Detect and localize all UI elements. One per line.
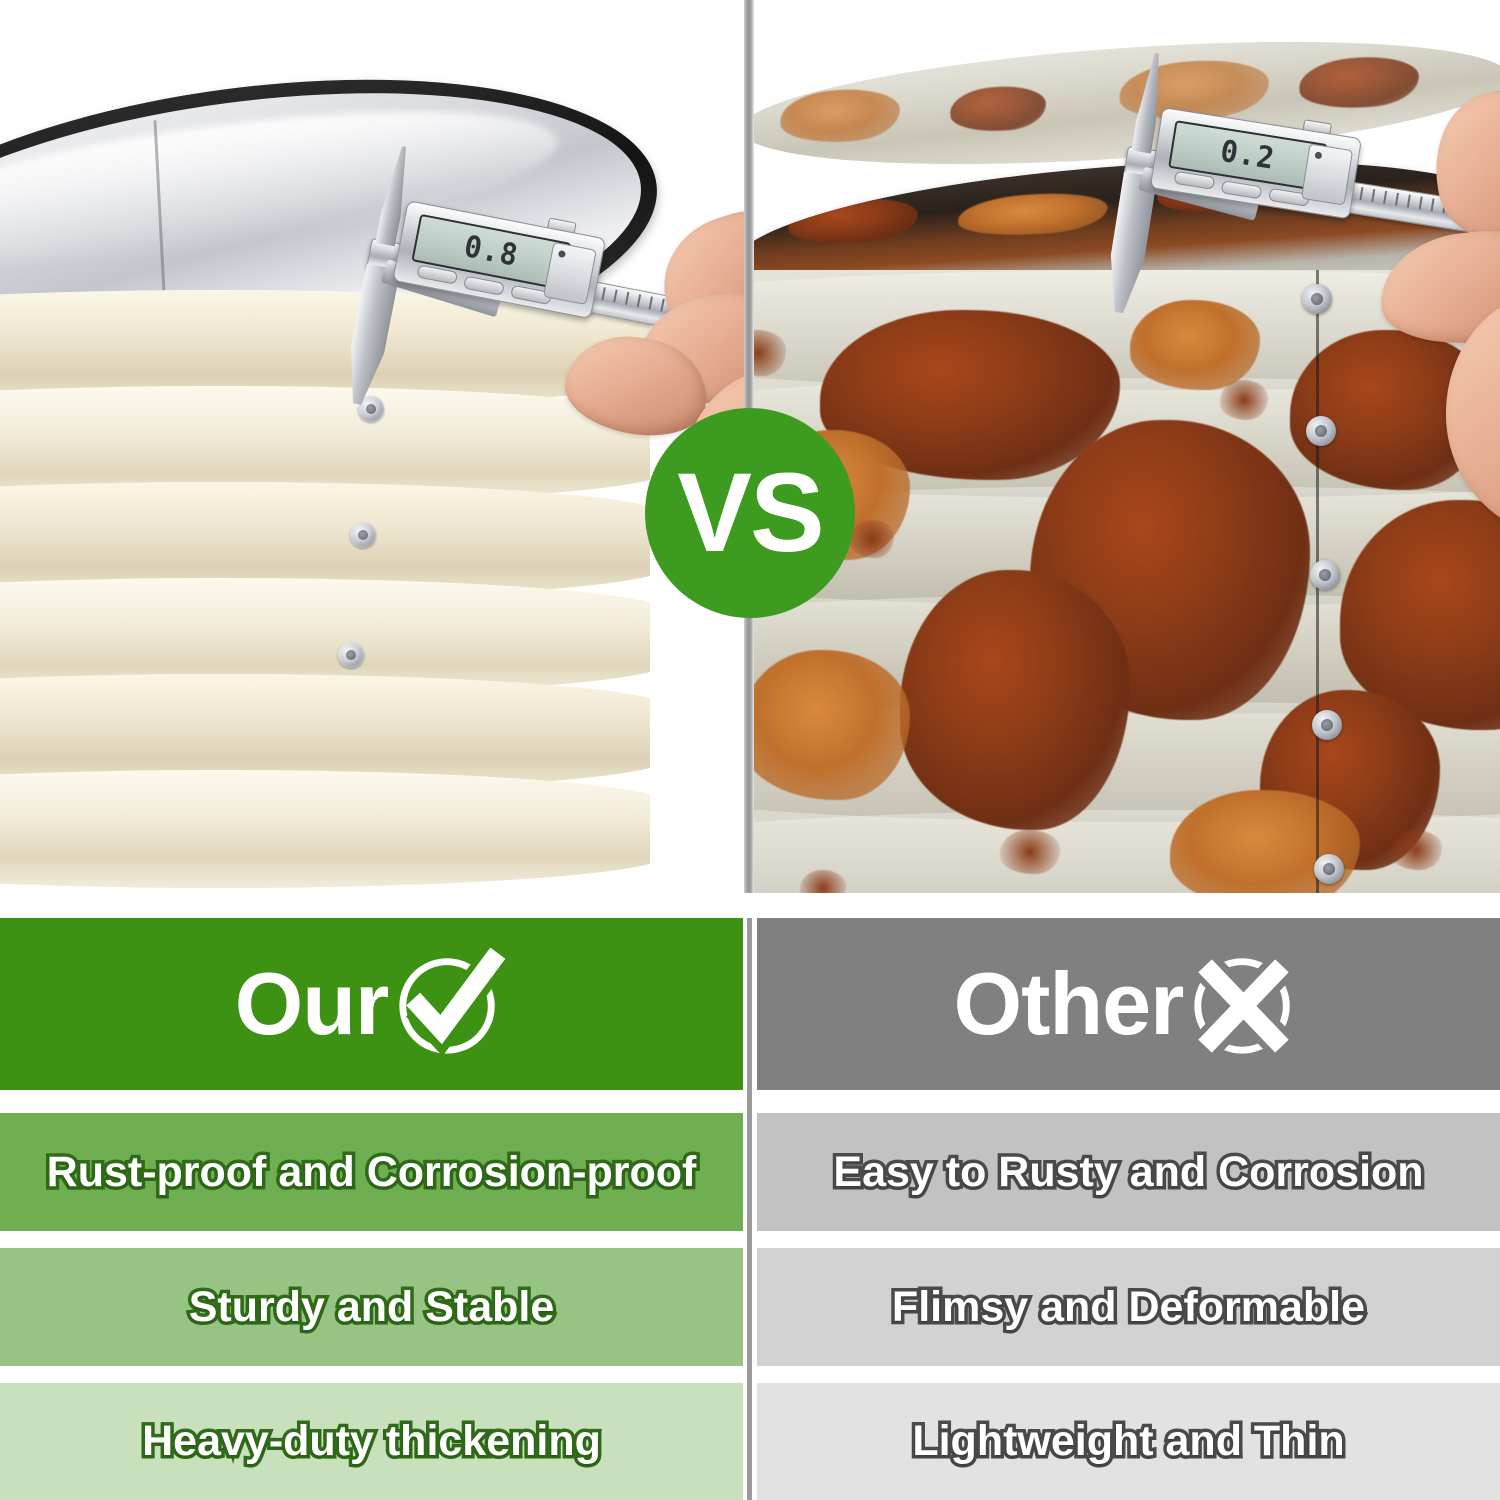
other-feature-2: Flimsy and Deformable: [757, 1248, 1500, 1366]
caliper-battery-cover: [1301, 143, 1353, 205]
our-product-photo: 0.8: [0, 0, 750, 893]
feature-label: Heavy-duty thickening: [142, 1420, 601, 1463]
rusty-garden-bed-graphic: [750, 20, 1500, 893]
rivet: [1310, 560, 1340, 590]
check-circle-icon: [390, 945, 508, 1063]
feature-label: Sturdy and Stable: [189, 1286, 555, 1329]
rust-patch: [1130, 300, 1260, 390]
rivet: [1314, 854, 1344, 884]
rivet: [1302, 284, 1332, 314]
caliper-reading-value: 0.2: [1219, 137, 1277, 175]
rusty-bed-body: [750, 270, 1500, 893]
other-header: Other: [757, 918, 1500, 1090]
feature-label: Easy to Rusty and Corrosion: [833, 1151, 1423, 1194]
our-feature-3: Heavy-duty thickening: [0, 1383, 743, 1500]
rivet: [350, 522, 376, 548]
our-feature-1: Rust-proof and Corrosion-proof: [0, 1113, 743, 1231]
rivet: [1306, 416, 1336, 446]
x-circle-icon: [1185, 945, 1303, 1063]
our-header-label: Our: [235, 960, 388, 1048]
rust-patch: [900, 570, 1130, 830]
other-feature-1: Easy to Rusty and Corrosion: [757, 1113, 1500, 1231]
caliper-reading-value: 0.8: [462, 232, 521, 272]
our-header: Our: [0, 918, 743, 1090]
our-feature-2: Sturdy and Stable: [0, 1248, 743, 1366]
bars-divider: [747, 918, 752, 1500]
other-feature-3: Lightweight and Thin: [757, 1383, 1500, 1500]
comparison-infographic: 0.8: [0, 0, 1500, 1500]
rivet: [1312, 710, 1342, 740]
caliper-button: [463, 276, 505, 296]
other-header-label: Other: [954, 960, 1184, 1048]
bed-body-corrugations: [0, 290, 650, 893]
feature-label: Rust-proof and Corrosion-proof: [47, 1151, 697, 1194]
photo-comparison-section: 0.8: [0, 0, 1500, 893]
caliper-battery-cover: [543, 242, 597, 305]
vs-badge: VS: [645, 408, 855, 618]
rivet: [338, 642, 364, 668]
cream-garden-bed-graphic: [0, 60, 750, 893]
rust-patch: [750, 650, 910, 800]
caliper-button: [1221, 180, 1263, 199]
other-product-photo: 0.2: [750, 0, 1500, 893]
feature-label: Flimsy and Deformable: [892, 1286, 1365, 1329]
feature-label: Lightweight and Thin: [912, 1420, 1344, 1463]
vs-label: VS: [677, 457, 822, 569]
